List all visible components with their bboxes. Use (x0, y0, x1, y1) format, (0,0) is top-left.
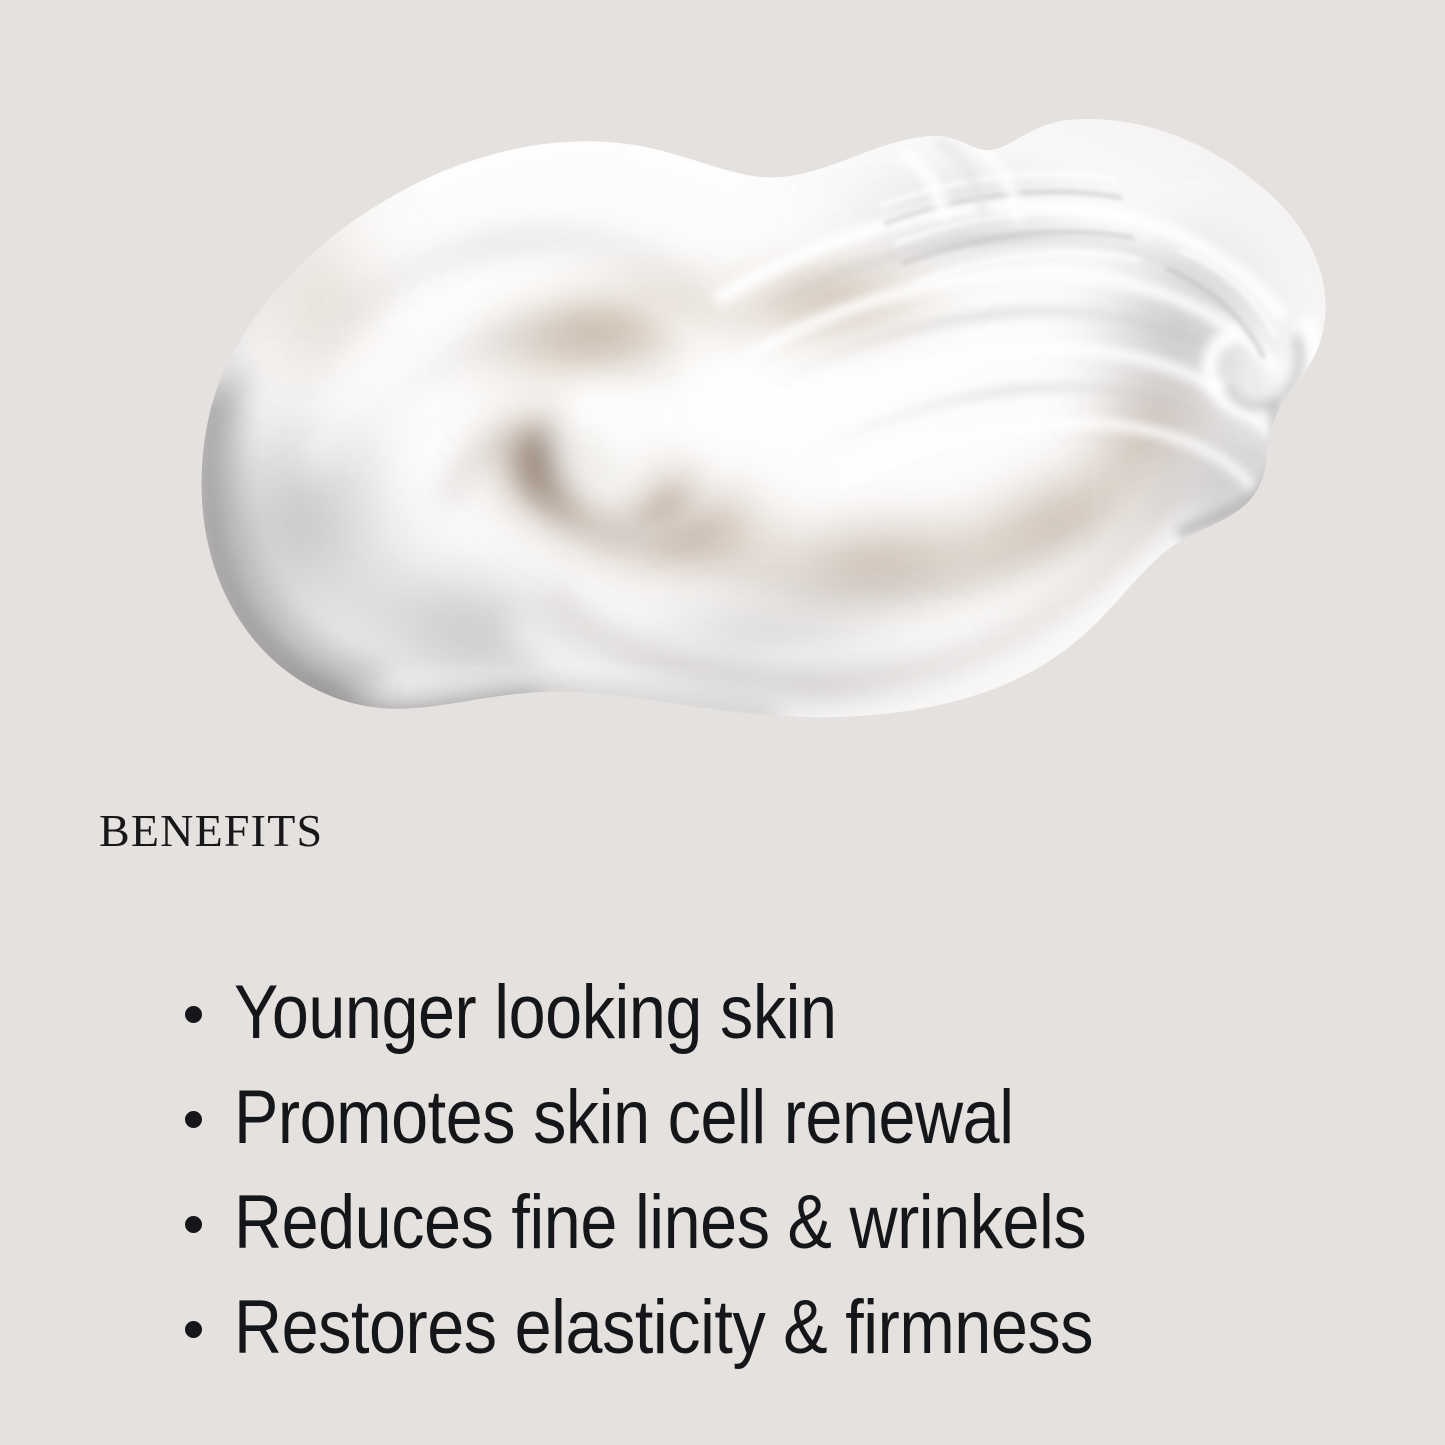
list-item: Restores elasticity & firmness (185, 1290, 1216, 1395)
bullet-icon (185, 1111, 202, 1128)
cream-swatch-image (0, 0, 1445, 780)
product-benefits-card: BENEFITS Younger looking skin Promotes s… (0, 0, 1445, 1445)
benefit-label: Younger looking skin (234, 975, 837, 1051)
benefit-label: Reduces fine lines & wrinkels (234, 1185, 1086, 1261)
benefits-heading: BENEFITS (99, 808, 323, 854)
list-item: Younger looking skin (185, 975, 1216, 1080)
bullet-icon (185, 1216, 202, 1233)
benefit-label: Restores elasticity & firmness (234, 1290, 1093, 1366)
benefit-label: Promotes skin cell renewal (234, 1080, 1014, 1156)
list-item: Promotes skin cell renewal (185, 1080, 1216, 1185)
bullet-icon (185, 1006, 202, 1023)
bullet-icon (185, 1321, 202, 1338)
list-item: Reduces fine lines & wrinkels (185, 1185, 1216, 1290)
benefits-list: Younger looking skin Promotes skin cell … (185, 975, 1216, 1395)
